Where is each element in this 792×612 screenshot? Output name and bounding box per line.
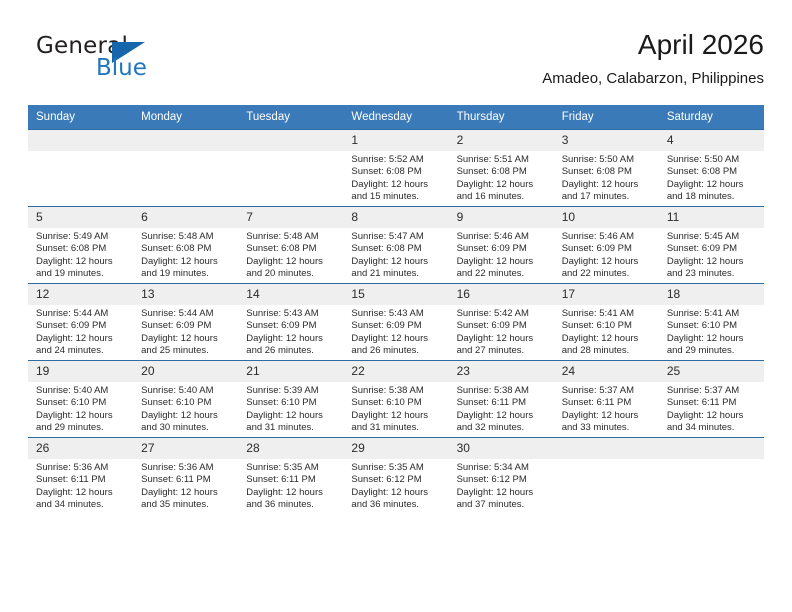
sunrise-text: Sunrise: 5:36 AM [141, 462, 232, 474]
daylight-text-line1: Daylight: 12 hours [667, 179, 758, 191]
daylight-text-line2: and 34 minutes. [36, 499, 127, 511]
weekday-header-friday: Friday [554, 105, 659, 130]
day-number [133, 130, 238, 151]
day-sun-info: Sunrise: 5:43 AMSunset: 6:09 PMDaylight:… [238, 305, 343, 358]
daylight-text-line1: Daylight: 12 hours [36, 410, 127, 422]
daylight-text-line2: and 36 minutes. [351, 499, 442, 511]
calendar-cell-day[interactable]: 29Sunrise: 5:35 AMSunset: 6:12 PMDayligh… [343, 438, 448, 515]
daylight-text-line2: and 22 minutes. [562, 268, 653, 280]
weekday-header-row: Sunday Monday Tuesday Wednesday Thursday… [28, 105, 764, 130]
day-number: 14 [238, 284, 343, 305]
calendar-cell-day[interactable]: 30Sunrise: 5:34 AMSunset: 6:12 PMDayligh… [449, 438, 554, 515]
daylight-text-line1: Daylight: 12 hours [457, 487, 548, 499]
calendar-week-row: 26Sunrise: 5:36 AMSunset: 6:11 PMDayligh… [28, 438, 764, 515]
daylight-text-line2: and 37 minutes. [457, 499, 548, 511]
daylight-text-line1: Daylight: 12 hours [246, 333, 337, 345]
sunset-text: Sunset: 6:08 PM [351, 243, 442, 255]
day-number: 8 [343, 207, 448, 228]
day-sun-info: Sunrise: 5:34 AMSunset: 6:12 PMDaylight:… [449, 459, 554, 512]
day-number [659, 438, 764, 459]
sunset-text: Sunset: 6:08 PM [562, 166, 653, 178]
daylight-text-line1: Daylight: 12 hours [562, 410, 653, 422]
calendar-cell-day[interactable]: 10Sunrise: 5:46 AMSunset: 6:09 PMDayligh… [554, 207, 659, 284]
calendar-cell-day[interactable]: 22Sunrise: 5:38 AMSunset: 6:10 PMDayligh… [343, 361, 448, 438]
day-number: 22 [343, 361, 448, 382]
daylight-text-line2: and 24 minutes. [36, 345, 127, 357]
sunrise-text: Sunrise: 5:35 AM [351, 462, 442, 474]
page-header: General Blue April 2026 Amadeo, Calabarz… [28, 28, 764, 98]
daylight-text-line2: and 31 minutes. [351, 422, 442, 434]
sunrise-text: Sunrise: 5:41 AM [562, 308, 653, 320]
sunset-text: Sunset: 6:08 PM [351, 166, 442, 178]
daylight-text-line1: Daylight: 12 hours [141, 256, 232, 268]
sunset-text: Sunset: 6:10 PM [667, 320, 758, 332]
sunrise-text: Sunrise: 5:49 AM [36, 231, 127, 243]
calendar-cell-day[interactable]: 14Sunrise: 5:43 AMSunset: 6:09 PMDayligh… [238, 284, 343, 361]
calendar-cell-empty [238, 130, 343, 207]
daylight-text-line2: and 17 minutes. [562, 191, 653, 203]
daylight-text-line2: and 23 minutes. [667, 268, 758, 280]
sunrise-text: Sunrise: 5:39 AM [246, 385, 337, 397]
day-number: 30 [449, 438, 554, 459]
sunset-text: Sunset: 6:10 PM [351, 397, 442, 409]
daylight-text-line1: Daylight: 12 hours [562, 333, 653, 345]
daylight-text-line2: and 26 minutes. [246, 345, 337, 357]
day-number: 18 [659, 284, 764, 305]
day-number: 3 [554, 130, 659, 151]
weekday-header-tuesday: Tuesday [238, 105, 343, 130]
day-number: 27 [133, 438, 238, 459]
general-blue-logo[interactable]: General Blue [36, 33, 216, 83]
sunset-text: Sunset: 6:11 PM [141, 474, 232, 486]
daylight-text-line2: and 21 minutes. [351, 268, 442, 280]
day-number: 23 [449, 361, 554, 382]
sunset-text: Sunset: 6:09 PM [562, 243, 653, 255]
calendar-cell-day[interactable]: 13Sunrise: 5:44 AMSunset: 6:09 PMDayligh… [133, 284, 238, 361]
location-subtitle: Amadeo, Calabarzon, Philippines [542, 68, 764, 90]
daylight-text-line1: Daylight: 12 hours [36, 256, 127, 268]
daylight-text-line1: Daylight: 12 hours [457, 333, 548, 345]
sunset-text: Sunset: 6:10 PM [36, 397, 127, 409]
day-sun-info: Sunrise: 5:49 AMSunset: 6:08 PMDaylight:… [28, 228, 133, 281]
sunrise-text: Sunrise: 5:50 AM [667, 154, 758, 166]
sunset-text: Sunset: 6:11 PM [562, 397, 653, 409]
daylight-text-line2: and 31 minutes. [246, 422, 337, 434]
sunrise-text: Sunrise: 5:51 AM [457, 154, 548, 166]
sunrise-text: Sunrise: 5:44 AM [36, 308, 127, 320]
calendar-cell-day[interactable]: 24Sunrise: 5:37 AMSunset: 6:11 PMDayligh… [554, 361, 659, 438]
calendar-cell-day[interactable]: 18Sunrise: 5:41 AMSunset: 6:10 PMDayligh… [659, 284, 764, 361]
sunrise-text: Sunrise: 5:45 AM [667, 231, 758, 243]
day-sun-info: Sunrise: 5:48 AMSunset: 6:08 PMDaylight:… [133, 228, 238, 281]
calendar-cell-day[interactable]: 27Sunrise: 5:36 AMSunset: 6:11 PMDayligh… [133, 438, 238, 515]
sunrise-text: Sunrise: 5:48 AM [246, 231, 337, 243]
daylight-text-line2: and 33 minutes. [562, 422, 653, 434]
day-sun-info: Sunrise: 5:35 AMSunset: 6:11 PMDaylight:… [238, 459, 343, 512]
sunrise-text: Sunrise: 5:38 AM [351, 385, 442, 397]
sunset-text: Sunset: 6:11 PM [457, 397, 548, 409]
calendar-cell-day[interactable]: 6Sunrise: 5:48 AMSunset: 6:08 PMDaylight… [133, 207, 238, 284]
calendar-cell-day[interactable]: 1Sunrise: 5:52 AMSunset: 6:08 PMDaylight… [343, 130, 448, 207]
sunset-text: Sunset: 6:09 PM [36, 320, 127, 332]
day-number: 28 [238, 438, 343, 459]
daylight-text-line2: and 28 minutes. [562, 345, 653, 357]
day-sun-info: Sunrise: 5:40 AMSunset: 6:10 PMDaylight:… [28, 382, 133, 435]
calendar-cell-day[interactable]: 25Sunrise: 5:37 AMSunset: 6:11 PMDayligh… [659, 361, 764, 438]
daylight-text-line2: and 36 minutes. [246, 499, 337, 511]
sunset-text: Sunset: 6:11 PM [246, 474, 337, 486]
sunrise-text: Sunrise: 5:37 AM [667, 385, 758, 397]
day-sun-info: Sunrise: 5:41 AMSunset: 6:10 PMDaylight:… [554, 305, 659, 358]
sunrise-text: Sunrise: 5:40 AM [36, 385, 127, 397]
calendar-cell-day[interactable]: 8Sunrise: 5:47 AMSunset: 6:08 PMDaylight… [343, 207, 448, 284]
sunrise-text: Sunrise: 5:50 AM [562, 154, 653, 166]
calendar-cell-day[interactable]: 23Sunrise: 5:38 AMSunset: 6:11 PMDayligh… [449, 361, 554, 438]
sunset-text: Sunset: 6:10 PM [562, 320, 653, 332]
day-sun-info: Sunrise: 5:41 AMSunset: 6:10 PMDaylight:… [659, 305, 764, 358]
day-sun-info: Sunrise: 5:42 AMSunset: 6:09 PMDaylight:… [449, 305, 554, 358]
daylight-text-line2: and 18 minutes. [667, 191, 758, 203]
day-sun-info: Sunrise: 5:48 AMSunset: 6:08 PMDaylight:… [238, 228, 343, 281]
sunset-text: Sunset: 6:09 PM [457, 320, 548, 332]
sunrise-text: Sunrise: 5:46 AM [457, 231, 548, 243]
daylight-text-line2: and 32 minutes. [457, 422, 548, 434]
weekday-header-thursday: Thursday [449, 105, 554, 130]
sunset-text: Sunset: 6:09 PM [667, 243, 758, 255]
day-number [238, 130, 343, 151]
calendar-week-row: 5Sunrise: 5:49 AMSunset: 6:08 PMDaylight… [28, 207, 764, 284]
day-number: 29 [343, 438, 448, 459]
day-sun-info: Sunrise: 5:37 AMSunset: 6:11 PMDaylight:… [554, 382, 659, 435]
sunset-text: Sunset: 6:10 PM [141, 397, 232, 409]
day-number [554, 438, 659, 459]
day-sun-info: Sunrise: 5:46 AMSunset: 6:09 PMDaylight:… [554, 228, 659, 281]
day-number: 19 [28, 361, 133, 382]
daylight-text-line1: Daylight: 12 hours [351, 333, 442, 345]
sunrise-text: Sunrise: 5:37 AM [562, 385, 653, 397]
calendar-page: General Blue April 2026 Amadeo, Calabarz… [0, 0, 792, 612]
daylight-text-line2: and 35 minutes. [141, 499, 232, 511]
day-number: 11 [659, 207, 764, 228]
day-sun-info: Sunrise: 5:39 AMSunset: 6:10 PMDaylight:… [238, 382, 343, 435]
calendar-cell-day[interactable]: 16Sunrise: 5:42 AMSunset: 6:09 PMDayligh… [449, 284, 554, 361]
calendar-cell-empty [133, 130, 238, 207]
title-block: April 2026 Amadeo, Calabarzon, Philippin… [542, 28, 764, 90]
day-number: 12 [28, 284, 133, 305]
day-number: 9 [449, 207, 554, 228]
day-number: 20 [133, 361, 238, 382]
sunrise-text: Sunrise: 5:44 AM [141, 308, 232, 320]
sunset-text: Sunset: 6:09 PM [141, 320, 232, 332]
sunrise-text: Sunrise: 5:46 AM [562, 231, 653, 243]
weekday-header-wednesday: Wednesday [343, 105, 448, 130]
day-sun-info: Sunrise: 5:50 AMSunset: 6:08 PMDaylight:… [554, 151, 659, 204]
day-number: 21 [238, 361, 343, 382]
day-sun-info: Sunrise: 5:44 AMSunset: 6:09 PMDaylight:… [28, 305, 133, 358]
daylight-text-line1: Daylight: 12 hours [351, 410, 442, 422]
day-number: 16 [449, 284, 554, 305]
daylight-text-line1: Daylight: 12 hours [351, 256, 442, 268]
calendar-head: Sunday Monday Tuesday Wednesday Thursday… [28, 105, 764, 130]
sunset-text: Sunset: 6:11 PM [36, 474, 127, 486]
day-sun-info: Sunrise: 5:47 AMSunset: 6:08 PMDaylight:… [343, 228, 448, 281]
daylight-text-line2: and 27 minutes. [457, 345, 548, 357]
weekday-header-monday: Monday [133, 105, 238, 130]
day-sun-info: Sunrise: 5:46 AMSunset: 6:09 PMDaylight:… [449, 228, 554, 281]
day-number: 25 [659, 361, 764, 382]
daylight-text-line1: Daylight: 12 hours [667, 410, 758, 422]
daylight-text-line2: and 29 minutes. [36, 422, 127, 434]
calendar-cell-empty [28, 130, 133, 207]
day-number: 6 [133, 207, 238, 228]
day-number: 1 [343, 130, 448, 151]
daylight-text-line1: Daylight: 12 hours [667, 333, 758, 345]
daylight-text-line1: Daylight: 12 hours [457, 256, 548, 268]
page-title: April 2026 [542, 28, 764, 62]
day-sun-info: Sunrise: 5:36 AMSunset: 6:11 PMDaylight:… [28, 459, 133, 512]
day-sun-info: Sunrise: 5:50 AMSunset: 6:08 PMDaylight:… [659, 151, 764, 204]
sunrise-text: Sunrise: 5:47 AM [351, 231, 442, 243]
day-sun-info: Sunrise: 5:44 AMSunset: 6:09 PMDaylight:… [133, 305, 238, 358]
calendar-cell-day[interactable]: 26Sunrise: 5:36 AMSunset: 6:11 PMDayligh… [28, 438, 133, 515]
day-number: 10 [554, 207, 659, 228]
day-sun-info: Sunrise: 5:43 AMSunset: 6:09 PMDaylight:… [343, 305, 448, 358]
sunset-text: Sunset: 6:10 PM [246, 397, 337, 409]
sunrise-text: Sunrise: 5:42 AM [457, 308, 548, 320]
daylight-text-line1: Daylight: 12 hours [457, 410, 548, 422]
calendar-week-row: 1Sunrise: 5:52 AMSunset: 6:08 PMDaylight… [28, 130, 764, 207]
day-sun-info: Sunrise: 5:37 AMSunset: 6:11 PMDaylight:… [659, 382, 764, 435]
sunrise-text: Sunrise: 5:43 AM [246, 308, 337, 320]
daylight-text-line1: Daylight: 12 hours [246, 487, 337, 499]
day-sun-info: Sunrise: 5:38 AMSunset: 6:10 PMDaylight:… [343, 382, 448, 435]
sunset-text: Sunset: 6:08 PM [141, 243, 232, 255]
day-number: 26 [28, 438, 133, 459]
daylight-text-line2: and 19 minutes. [141, 268, 232, 280]
daylight-text-line2: and 34 minutes. [667, 422, 758, 434]
calendar-cell-day[interactable]: 3Sunrise: 5:50 AMSunset: 6:08 PMDaylight… [554, 130, 659, 207]
daylight-text-line2: and 16 minutes. [457, 191, 548, 203]
daylight-text-line2: and 25 minutes. [141, 345, 232, 357]
daylight-text-line1: Daylight: 12 hours [457, 179, 548, 191]
calendar-cell-day[interactable]: 9Sunrise: 5:46 AMSunset: 6:09 PMDaylight… [449, 207, 554, 284]
calendar-cell-day[interactable]: 20Sunrise: 5:40 AMSunset: 6:10 PMDayligh… [133, 361, 238, 438]
day-sun-info: Sunrise: 5:51 AMSunset: 6:08 PMDaylight:… [449, 151, 554, 204]
calendar-cell-empty [659, 438, 764, 515]
calendar-cell-day[interactable]: 2Sunrise: 5:51 AMSunset: 6:08 PMDaylight… [449, 130, 554, 207]
daylight-text-line1: Daylight: 12 hours [36, 333, 127, 345]
day-sun-info: Sunrise: 5:45 AMSunset: 6:09 PMDaylight:… [659, 228, 764, 281]
calendar-cell-day[interactable]: 17Sunrise: 5:41 AMSunset: 6:10 PMDayligh… [554, 284, 659, 361]
sunset-text: Sunset: 6:11 PM [667, 397, 758, 409]
daylight-text-line1: Daylight: 12 hours [141, 487, 232, 499]
daylight-text-line1: Daylight: 12 hours [246, 410, 337, 422]
sunrise-text: Sunrise: 5:48 AM [141, 231, 232, 243]
daylight-text-line2: and 15 minutes. [351, 191, 442, 203]
sunrise-text: Sunrise: 5:36 AM [36, 462, 127, 474]
sunrise-text: Sunrise: 5:40 AM [141, 385, 232, 397]
day-sun-info: Sunrise: 5:36 AMSunset: 6:11 PMDaylight:… [133, 459, 238, 512]
calendar-cell-empty [554, 438, 659, 515]
sunrise-text: Sunrise: 5:38 AM [457, 385, 548, 397]
day-number: 2 [449, 130, 554, 151]
calendar-cell-day[interactable]: 12Sunrise: 5:44 AMSunset: 6:09 PMDayligh… [28, 284, 133, 361]
day-number: 7 [238, 207, 343, 228]
daylight-text-line2: and 30 minutes. [141, 422, 232, 434]
sunrise-text: Sunrise: 5:52 AM [351, 154, 442, 166]
calendar-cell-day[interactable]: 5Sunrise: 5:49 AMSunset: 6:08 PMDaylight… [28, 207, 133, 284]
daylight-text-line1: Daylight: 12 hours [351, 487, 442, 499]
calendar-cell-day[interactable]: 21Sunrise: 5:39 AMSunset: 6:10 PMDayligh… [238, 361, 343, 438]
sunrise-sunset-calendar: Sunday Monday Tuesday Wednesday Thursday… [28, 105, 764, 514]
logo-word-blue: Blue [96, 55, 147, 81]
calendar-cell-day[interactable]: 19Sunrise: 5:40 AMSunset: 6:10 PMDayligh… [28, 361, 133, 438]
daylight-text-line1: Daylight: 12 hours [36, 487, 127, 499]
calendar-cell-day[interactable]: 4Sunrise: 5:50 AMSunset: 6:08 PMDaylight… [659, 130, 764, 207]
day-number: 17 [554, 284, 659, 305]
daylight-text-line1: Daylight: 12 hours [667, 256, 758, 268]
day-sun-info: Sunrise: 5:38 AMSunset: 6:11 PMDaylight:… [449, 382, 554, 435]
weekday-header-sunday: Sunday [28, 105, 133, 130]
day-number: 24 [554, 361, 659, 382]
sunset-text: Sunset: 6:09 PM [457, 243, 548, 255]
calendar-week-row: 19Sunrise: 5:40 AMSunset: 6:10 PMDayligh… [28, 361, 764, 438]
daylight-text-line2: and 19 minutes. [36, 268, 127, 280]
sunset-text: Sunset: 6:08 PM [246, 243, 337, 255]
day-sun-info: Sunrise: 5:40 AMSunset: 6:10 PMDaylight:… [133, 382, 238, 435]
daylight-text-line2: and 26 minutes. [351, 345, 442, 357]
day-number: 5 [28, 207, 133, 228]
daylight-text-line1: Daylight: 12 hours [562, 179, 653, 191]
sunset-text: Sunset: 6:12 PM [457, 474, 548, 486]
calendar-week-row: 12Sunrise: 5:44 AMSunset: 6:09 PMDayligh… [28, 284, 764, 361]
daylight-text-line2: and 22 minutes. [457, 268, 548, 280]
sunset-text: Sunset: 6:09 PM [246, 320, 337, 332]
daylight-text-line1: Daylight: 12 hours [141, 410, 232, 422]
daylight-text-line1: Daylight: 12 hours [141, 333, 232, 345]
day-sun-info: Sunrise: 5:52 AMSunset: 6:08 PMDaylight:… [343, 151, 448, 204]
calendar-cell-day[interactable]: 7Sunrise: 5:48 AMSunset: 6:08 PMDaylight… [238, 207, 343, 284]
sunrise-text: Sunrise: 5:35 AM [246, 462, 337, 474]
daylight-text-line1: Daylight: 12 hours [351, 179, 442, 191]
day-number: 15 [343, 284, 448, 305]
sunset-text: Sunset: 6:08 PM [457, 166, 548, 178]
calendar-body: 1Sunrise: 5:52 AMSunset: 6:08 PMDaylight… [28, 130, 764, 515]
daylight-text-line2: and 20 minutes. [246, 268, 337, 280]
daylight-text-line1: Daylight: 12 hours [562, 256, 653, 268]
sunrise-text: Sunrise: 5:43 AM [351, 308, 442, 320]
sunset-text: Sunset: 6:08 PM [36, 243, 127, 255]
day-number: 13 [133, 284, 238, 305]
day-number [28, 130, 133, 151]
sunrise-text: Sunrise: 5:34 AM [457, 462, 548, 474]
calendar-cell-day[interactable]: 11Sunrise: 5:45 AMSunset: 6:09 PMDayligh… [659, 207, 764, 284]
daylight-text-line2: and 29 minutes. [667, 345, 758, 357]
daylight-text-line1: Daylight: 12 hours [246, 256, 337, 268]
sunset-text: Sunset: 6:08 PM [667, 166, 758, 178]
day-number: 4 [659, 130, 764, 151]
calendar-cell-day[interactable]: 28Sunrise: 5:35 AMSunset: 6:11 PMDayligh… [238, 438, 343, 515]
day-sun-info: Sunrise: 5:35 AMSunset: 6:12 PMDaylight:… [343, 459, 448, 512]
weekday-header-saturday: Saturday [659, 105, 764, 130]
calendar-cell-day[interactable]: 15Sunrise: 5:43 AMSunset: 6:09 PMDayligh… [343, 284, 448, 361]
sunrise-text: Sunrise: 5:41 AM [667, 308, 758, 320]
sunset-text: Sunset: 6:12 PM [351, 474, 442, 486]
sunset-text: Sunset: 6:09 PM [351, 320, 442, 332]
